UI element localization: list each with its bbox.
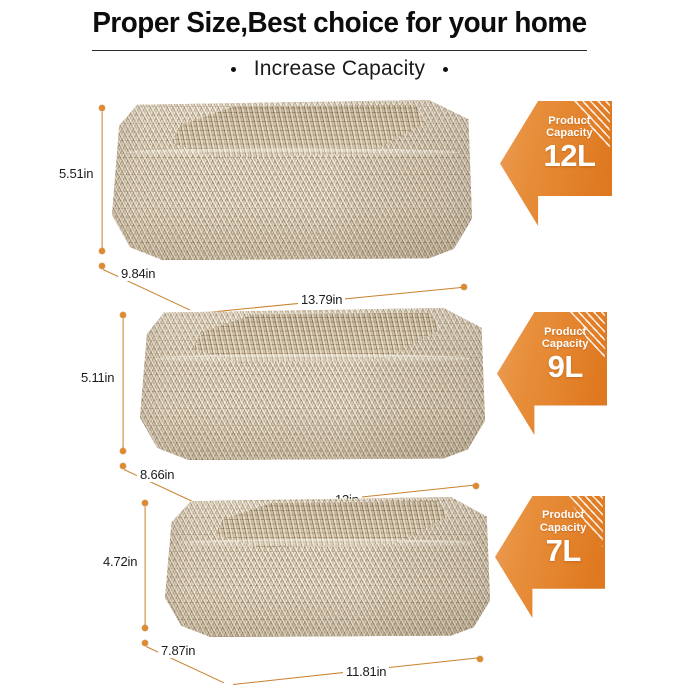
capacity-badge-medium[interactable]: Product Capacity 9L (497, 312, 607, 435)
dim-line-height (122, 319, 123, 452)
infographic-canvas: Proper Size,Best choice for your home In… (0, 0, 679, 679)
dim-dot (142, 625, 148, 631)
badge-arrow-shape (497, 312, 607, 435)
dimension-height-label: 4.72in (100, 554, 140, 569)
basket-image-medium: 5.11in 8.66in 13in (140, 308, 485, 460)
dim-dot (99, 263, 105, 269)
dim-dot (461, 284, 467, 290)
dim-dot (477, 656, 483, 662)
dimension-width-label: 13.79in (298, 292, 345, 307)
dimension-depth-label: 7.87in (158, 643, 198, 658)
badge-arrow-shape (495, 496, 605, 618)
page-title: Proper Size,Best choice for your home (14, 9, 666, 38)
dim-dot (99, 248, 105, 254)
dim-dot (120, 448, 126, 454)
dimension-depth-label: 9.84in (118, 266, 158, 281)
dim-dot (120, 312, 126, 318)
dim-dot (120, 463, 126, 469)
dim-dot (473, 483, 479, 489)
dim-dot (142, 640, 148, 646)
title-divider (92, 50, 587, 51)
dim-dot (142, 500, 148, 506)
basket-image-small: 4.72in 7.87in 11.81in (165, 497, 490, 637)
dim-dot (99, 105, 105, 111)
subtitle-text: Increase Capacity (254, 57, 425, 81)
capacity-badge-large[interactable]: Product Capacity 12L (500, 101, 612, 226)
basket-image-large: 5.51in 9.84in 13.79in (112, 100, 472, 260)
header: Proper Size,Best choice for your home In… (0, 0, 679, 38)
subtitle-row: Increase Capacity (0, 57, 679, 81)
bullet-dot-left-icon (231, 67, 236, 72)
badge-arrow-shape (500, 101, 612, 226)
dim-line-height (144, 507, 145, 629)
bullet-dot-right-icon (443, 67, 448, 72)
dimension-height-label: 5.51in (56, 166, 96, 181)
dim-line-height (101, 112, 102, 252)
dimension-width-label: 11.81in (343, 664, 389, 679)
dimension-depth-label: 8.66in (137, 467, 177, 482)
capacity-badge-small[interactable]: Product Capacity 7L (495, 496, 605, 618)
dimension-height-label: 5.11in (78, 370, 117, 385)
